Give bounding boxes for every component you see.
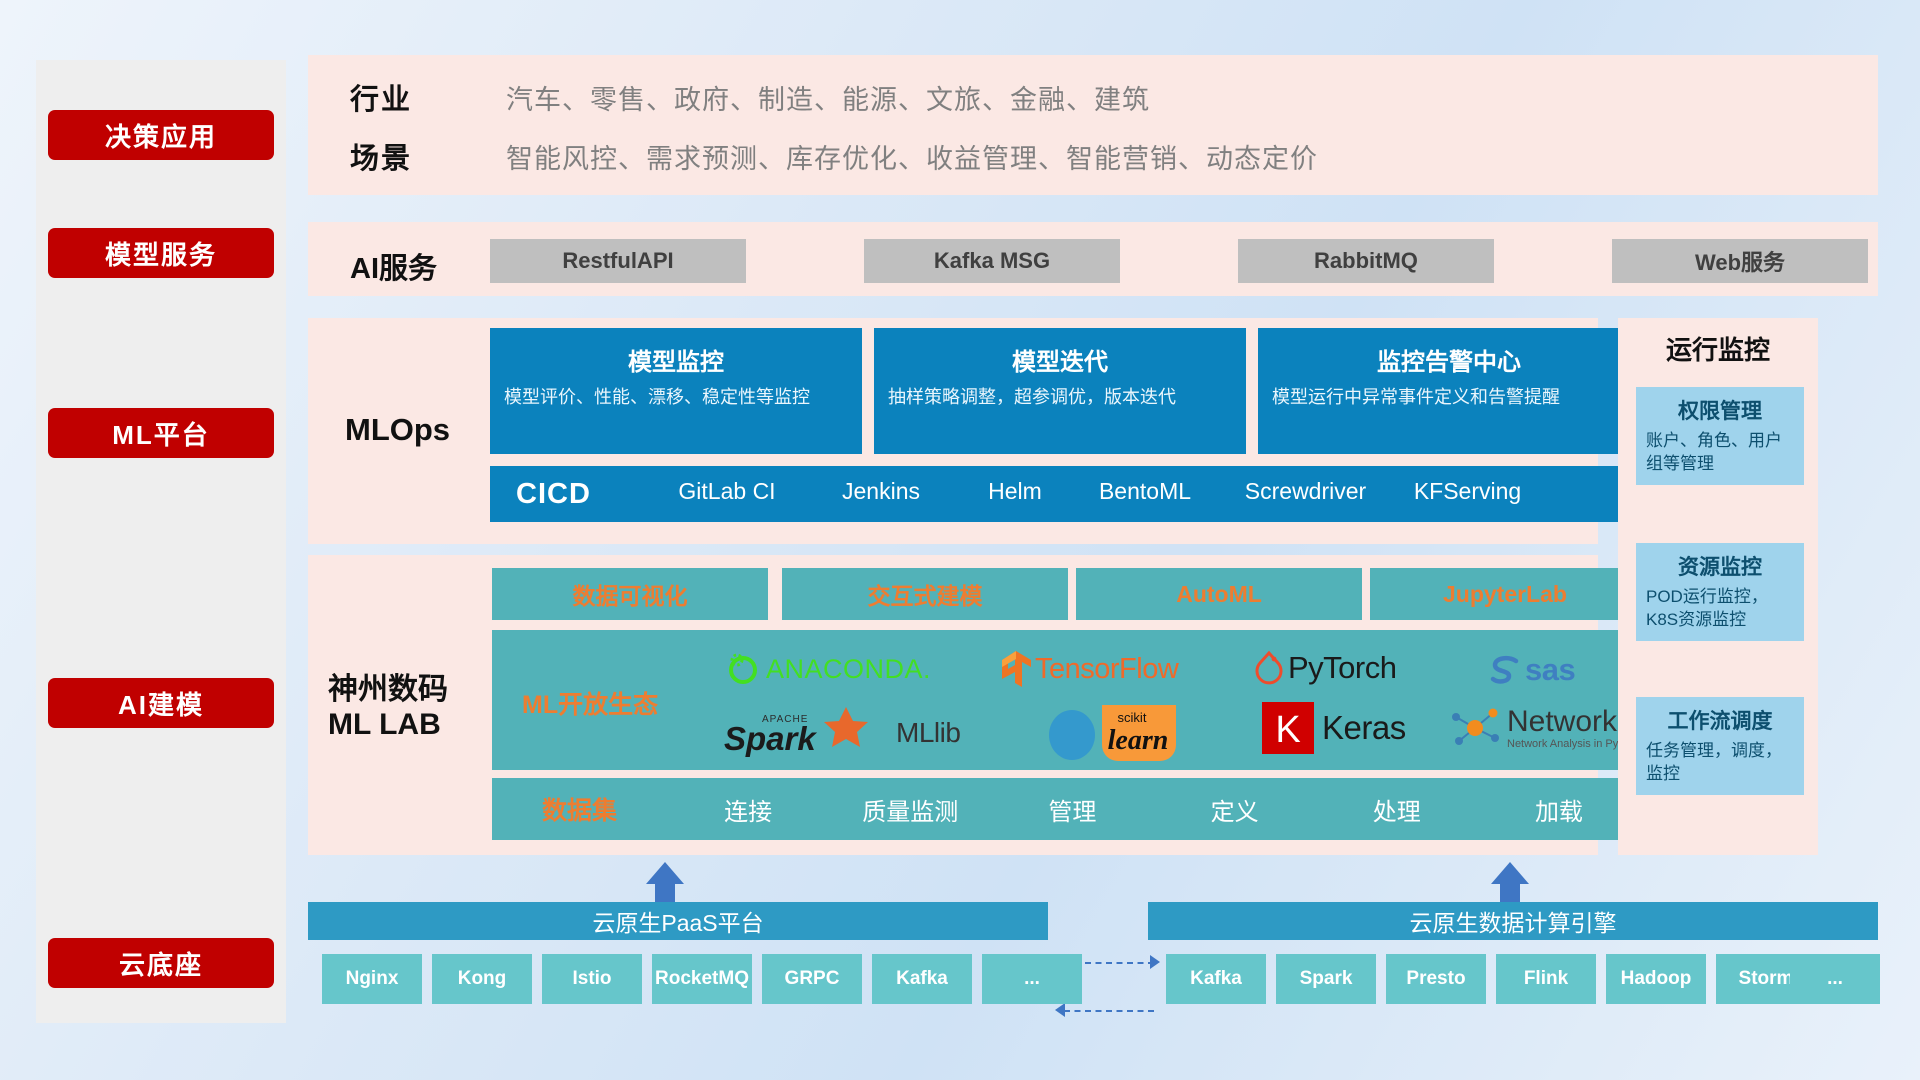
sas-icon: [1490, 654, 1524, 686]
cicd-item-screwdriver[interactable]: Screwdriver: [1238, 478, 1373, 504]
layer-chip-decision-app[interactable]: 决策应用: [48, 110, 274, 160]
layer-chip-label: 模型服务: [105, 235, 217, 272]
tool-jupyterlab[interactable]: JupyterLab: [1370, 568, 1640, 620]
ai-service-item-web-service[interactable]: Web服务: [1612, 239, 1868, 283]
paas-chip-rocketmq[interactable]: RocketMQ: [652, 954, 752, 1004]
networkx-icon: [1450, 705, 1502, 751]
mllib-wordmark: MLlib: [896, 717, 960, 749]
monitoring-card-title: 资源监控: [1646, 551, 1794, 581]
dataset-item-define[interactable]: 定义: [1154, 792, 1316, 827]
paas-chip-kong[interactable]: Kong: [432, 954, 532, 1004]
layer-chip-label: AI建模: [118, 685, 204, 722]
paas-chip-kafka[interactable]: Kafka: [872, 954, 972, 1004]
left-rail: [36, 60, 286, 1023]
anaconda-wordmark: ANACONDA.: [766, 654, 931, 685]
dashed-arrow-head-right: [1150, 955, 1160, 969]
monitoring-card-desc: POD运行监控，K8S资源监控: [1646, 586, 1794, 631]
engine-title: 云原生数据计算引擎: [1410, 904, 1617, 938]
tool-label: AutoML: [1176, 581, 1262, 608]
arrow-up-left-head: [646, 862, 684, 884]
dataset-item-manage[interactable]: 管理: [991, 792, 1153, 827]
anaconda-icon: [726, 652, 760, 686]
layer-chip-cloud-foundation[interactable]: 云底座: [48, 938, 274, 988]
ai-service-item-label: Kafka MSG: [934, 248, 1050, 274]
svg-text:K: K: [1275, 709, 1300, 751]
arrow-up-right-head: [1491, 862, 1529, 884]
mlops-card-alert-center[interactable]: 监控告警中心 模型运行中异常事件定义和告警提醒: [1258, 328, 1640, 454]
spark-mllib-logo: APACHE Spark MLlib: [722, 705, 960, 761]
ml-lab-label: 神州数码 ML LAB: [328, 672, 448, 743]
engine-chip-more[interactable]: ...: [1790, 954, 1880, 1004]
sas-wordmark: sas: [1525, 652, 1575, 688]
mlops-label: MLOps: [345, 412, 450, 448]
paas-bar[interactable]: 云原生PaaS平台: [308, 902, 1048, 940]
layer-chip-model-service[interactable]: 模型服务: [48, 228, 274, 278]
ml-lab-label-line2: ML LAB: [328, 707, 448, 742]
anaconda-logo: ANACONDA.: [726, 652, 931, 686]
layer-chip-label: ML平台: [112, 415, 210, 452]
dataset-band: 数据集 连接 质量监测 管理 定义 处理 加载: [492, 778, 1640, 840]
monitoring-card-resource[interactable]: 资源监控 POD运行监控，K8S资源监控: [1636, 543, 1804, 641]
ai-service-item-label: RabbitMQ: [1314, 248, 1418, 274]
paas-chip-more[interactable]: ...: [982, 954, 1082, 1004]
cicd-item-bentoml[interactable]: BentoML: [1090, 478, 1200, 504]
mlops-card-desc: 模型评价、性能、漂移、稳定性等监控: [504, 385, 848, 409]
cicd-item-gitlab-ci[interactable]: GitLab CI: [672, 478, 782, 504]
monitoring-card-workflow[interactable]: 工作流调度 任务管理，调度，监控: [1636, 697, 1804, 795]
pytorch-wordmark: PyTorch: [1288, 650, 1396, 686]
dataset-title: 数据集: [492, 791, 667, 827]
dataset-item-quality[interactable]: 质量监测: [829, 792, 991, 827]
industry-value: 汽车、零售、政府、制造、能源、文旅、金融、建筑: [506, 78, 1150, 117]
industry-label: 行业: [350, 76, 412, 118]
ml-ecosystem-label: ML开放生态: [522, 685, 658, 721]
cicd-item-kfserving[interactable]: KFServing: [1400, 478, 1535, 504]
mlops-card-title: 模型监控: [504, 342, 848, 377]
layer-chip-label: 决策应用: [105, 117, 217, 154]
tool-interactive-modeling[interactable]: 交互式建模: [782, 568, 1068, 620]
paas-chip-grpc[interactable]: GRPC: [762, 954, 862, 1004]
networkx-logo: NetworkX Network Analysis in Python: [1450, 705, 1640, 751]
engine-bar[interactable]: 云原生数据计算引擎: [1148, 902, 1878, 940]
monitoring-card-desc: 任务管理，调度，监控: [1646, 740, 1794, 785]
tool-label: 数据可视化: [573, 577, 688, 611]
ai-service-item-label: RestfulAPI: [562, 248, 673, 274]
ai-service-item-label: Web服务: [1695, 245, 1785, 277]
mlops-card-model-iteration[interactable]: 模型迭代 抽样策略调整，超参调优，版本迭代: [874, 328, 1246, 454]
dataset-item-process[interactable]: 处理: [1316, 792, 1478, 827]
engine-chip-flink[interactable]: Flink: [1496, 954, 1596, 1004]
ai-service-item-rabbitmq[interactable]: RabbitMQ: [1238, 239, 1494, 283]
tensorflow-icon: [1000, 650, 1032, 688]
svg-text:Spark: Spark: [724, 720, 817, 757]
engine-chip-presto[interactable]: Presto: [1386, 954, 1486, 1004]
mlops-card-title: 模型迭代: [888, 342, 1232, 377]
keras-icon: K: [1262, 702, 1314, 754]
sas-logo: sas: [1490, 652, 1575, 688]
svg-text:scikit: scikit: [1118, 710, 1147, 725]
scikit-learn-icon: scikit learn: [1044, 703, 1194, 763]
dataset-item-load[interactable]: 加载: [1478, 792, 1640, 827]
tool-automl[interactable]: AutoML: [1076, 568, 1362, 620]
dataset-item-connect[interactable]: 连接: [667, 792, 829, 827]
scikit-learn-logo: scikit learn: [1044, 703, 1194, 763]
monitoring-card-permission[interactable]: 权限管理 账户、角色、用户组等管理: [1636, 387, 1804, 485]
mlops-card-desc: 抽样策略调整，超参调优，版本迭代: [888, 385, 1232, 409]
spark-icon: APACHE Spark: [722, 705, 892, 761]
cicd-title: CICD: [516, 478, 591, 511]
engine-chip-spark[interactable]: Spark: [1276, 954, 1376, 1004]
layer-chip-ai-modeling[interactable]: AI建模: [48, 678, 274, 728]
layer-chip-label: 云底座: [119, 945, 203, 982]
ai-service-item-restfulapi[interactable]: RestfulAPI: [490, 239, 746, 283]
pytorch-logo: PyTorch: [1254, 650, 1396, 686]
tool-data-visualization[interactable]: 数据可视化: [492, 568, 768, 620]
architecture-diagram: 决策应用 模型服务 ML平台 AI建模 云底座 行业 汽车、零售、政府、制造、能…: [0, 0, 1920, 1080]
cicd-item-helm[interactable]: Helm: [960, 478, 1070, 504]
scene-value: 智能风控、需求预测、库存优化、收益管理、智能营销、动态定价: [506, 137, 1318, 176]
pytorch-icon: [1254, 650, 1284, 686]
monitoring-card-title: 工作流调度: [1646, 705, 1794, 735]
ai-service-item-kafka-msg[interactable]: Kafka MSG: [864, 239, 1120, 283]
layer-chip-ml-platform[interactable]: ML平台: [48, 408, 274, 458]
ml-lab-label-line1: 神州数码: [328, 672, 448, 707]
monitoring-card-title: 权限管理: [1646, 395, 1794, 425]
keras-wordmark: Keras: [1322, 709, 1406, 747]
cicd-item-jenkins[interactable]: Jenkins: [826, 478, 936, 504]
mlops-card-model-monitoring[interactable]: 模型监控 模型评价、性能、漂移、稳定性等监控: [490, 328, 862, 454]
paas-chip-nginx[interactable]: Nginx: [322, 954, 422, 1004]
dashed-connector-left: [1064, 1010, 1154, 1012]
paas-chip-istio[interactable]: Istio: [542, 954, 642, 1004]
keras-logo: K Keras: [1262, 702, 1406, 754]
paas-title: 云原生PaaS平台: [592, 904, 763, 938]
dashed-arrow-head-left: [1055, 1003, 1065, 1017]
tool-label: JupyterLab: [1443, 581, 1567, 608]
monitoring-card-desc: 账户、角色、用户组等管理: [1646, 430, 1794, 475]
mlops-card-desc: 模型运行中异常事件定义和告警提醒: [1272, 385, 1626, 409]
svg-text:learn: learn: [1108, 725, 1169, 756]
mlops-card-title: 监控告警中心: [1272, 342, 1626, 377]
tool-label: 交互式建模: [868, 577, 983, 611]
engine-chip-kafka[interactable]: Kafka: [1166, 954, 1266, 1004]
ai-service-label: AI服务: [350, 245, 437, 287]
monitoring-title: 运行监控: [1618, 330, 1818, 367]
scene-label: 场景: [350, 135, 412, 177]
tensorflow-wordmark: TensorFlow: [1035, 653, 1178, 686]
engine-chip-hadoop[interactable]: Hadoop: [1606, 954, 1706, 1004]
tensorflow-logo: TensorFlow: [1000, 650, 1178, 688]
